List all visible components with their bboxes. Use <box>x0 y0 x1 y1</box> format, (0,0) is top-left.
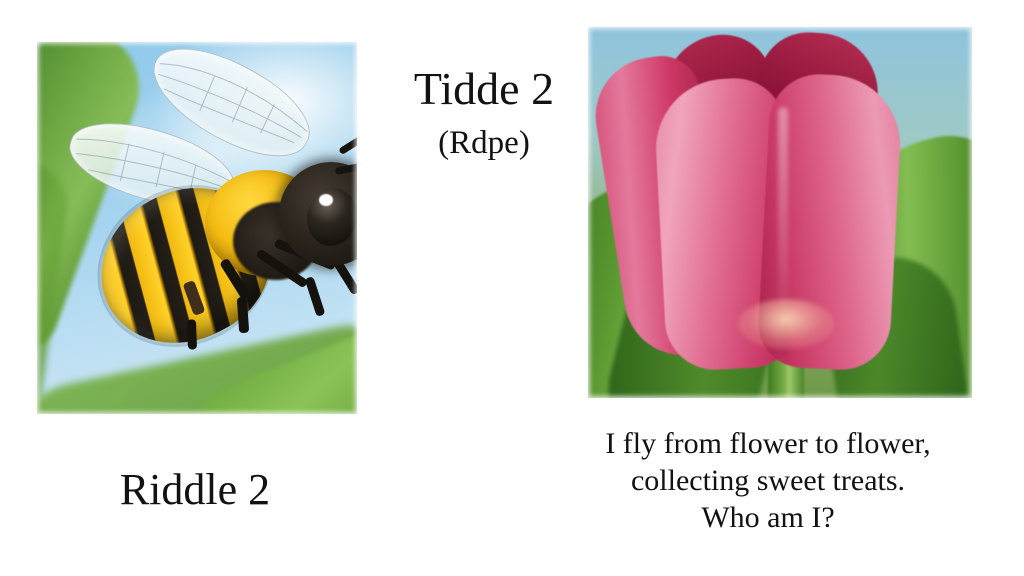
page-subtitle: (Rdpe) <box>374 127 594 160</box>
bee-antenna-icon <box>338 128 357 155</box>
tulip-base-highlight <box>738 299 834 349</box>
pink-tulip-illustration <box>588 27 972 398</box>
riddle-question-text: I fly from flower to flower, collecting … <box>556 425 980 537</box>
riddle-line: I fly from flower to flower, <box>556 425 980 462</box>
riddle-line: Who am I? <box>556 499 980 536</box>
bee-eye-highlight <box>319 194 333 206</box>
left-panel-caption: Riddle 2 <box>62 468 328 512</box>
bee-leg <box>187 319 197 349</box>
page-title: Tidde 2 <box>374 66 594 112</box>
riddle-line: collecting sweet treats. <box>556 462 980 499</box>
bumblebee-illustration <box>37 42 357 414</box>
slide-canvas: Tidde 2 (Rdpe) Riddle 2 I fly from flowe… <box>0 0 1024 576</box>
bee-leg <box>305 276 326 317</box>
